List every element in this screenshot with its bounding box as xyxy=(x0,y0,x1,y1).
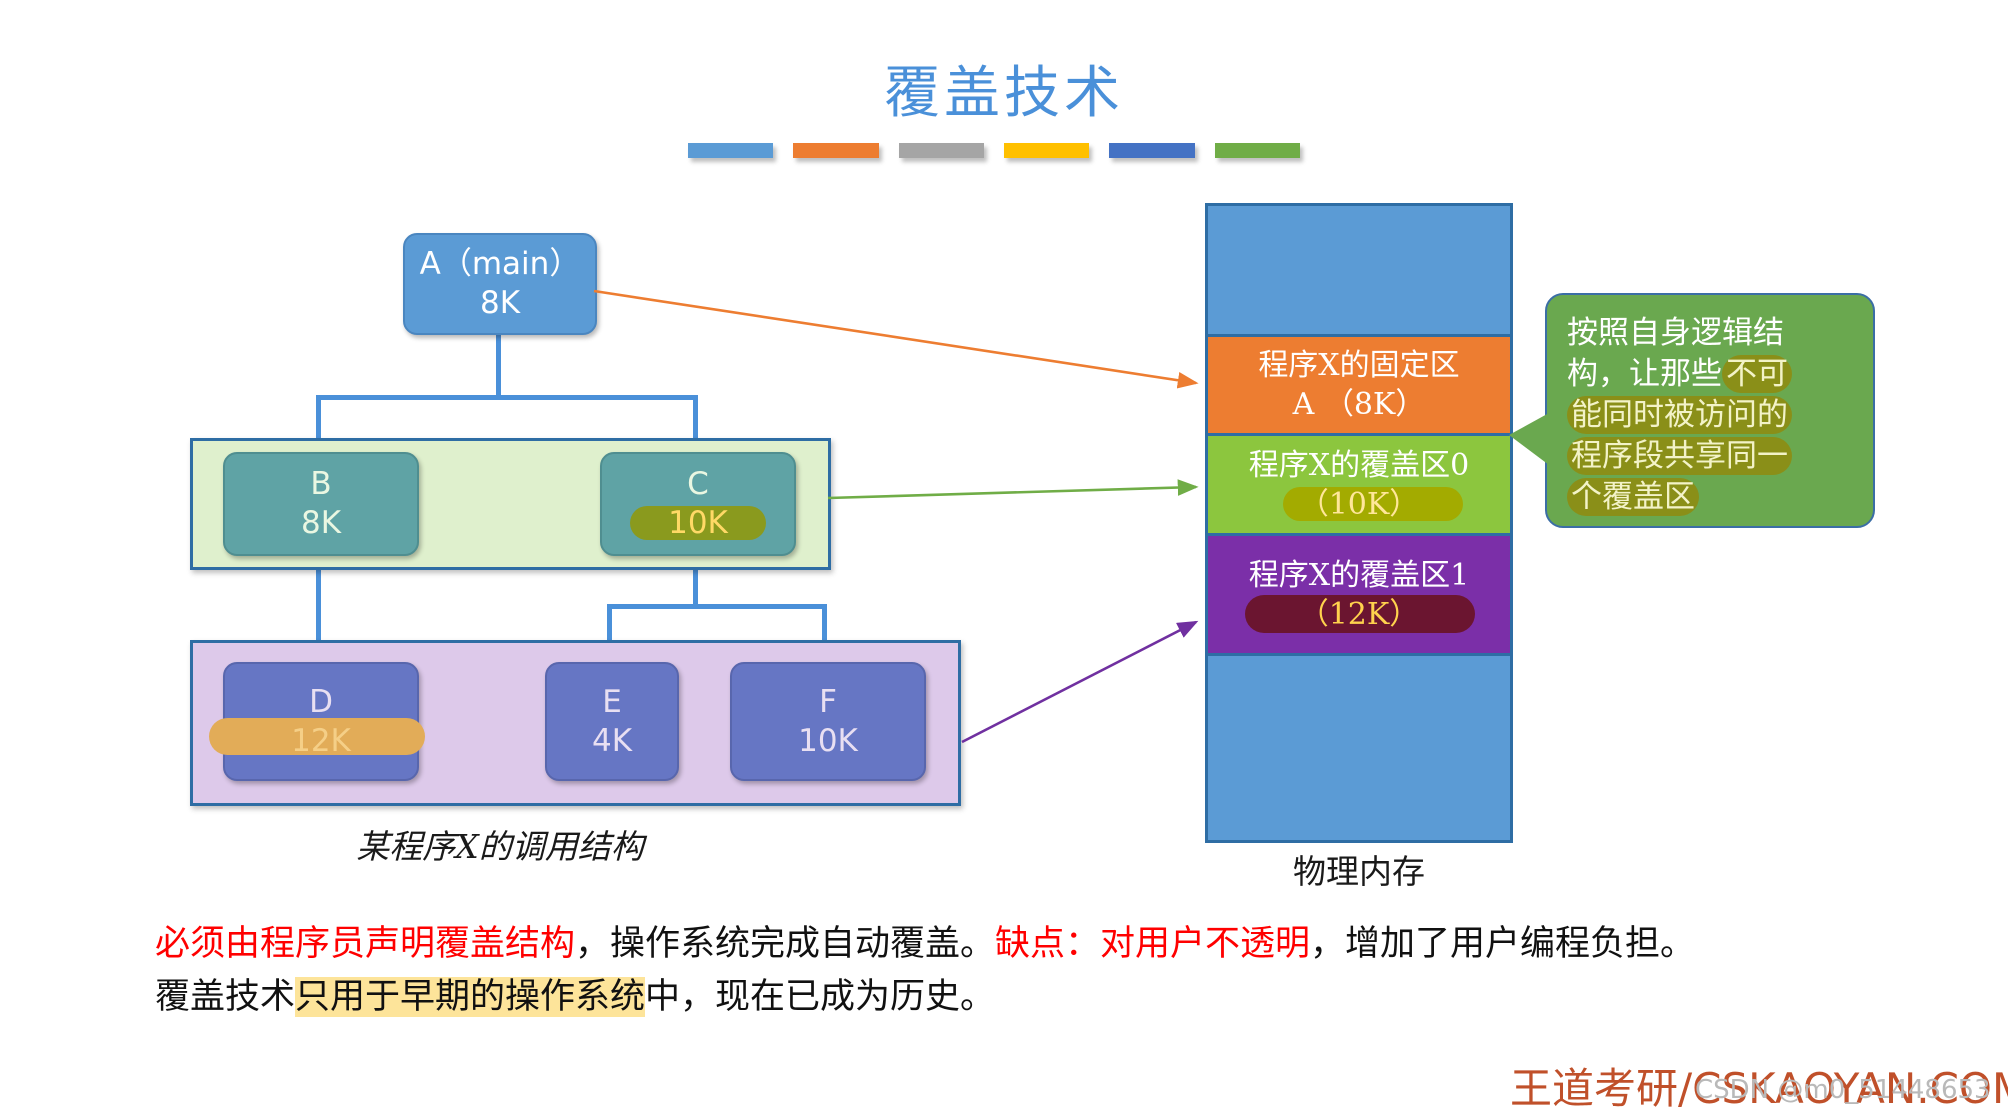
footnote-black-2: ，增加了用户编程负担。 xyxy=(1310,924,1695,964)
tree-node-a-label: A（main） xyxy=(420,245,581,284)
tree-node-d[interactable]: D 12K xyxy=(223,662,419,781)
memory-overlay0-line1: 程序X的覆盖区0 xyxy=(1249,446,1469,485)
connector-ef-bus xyxy=(607,604,827,609)
memory-segment-overlay-0[interactable]: 程序X的覆盖区0 （10K） xyxy=(1208,436,1510,536)
tree-node-c-label: C xyxy=(687,465,709,504)
tree-node-b[interactable]: B 8K xyxy=(223,452,419,556)
tree-node-d-size: 12K xyxy=(291,722,351,761)
tree-node-f[interactable]: F 10K xyxy=(730,662,926,781)
tree-node-f-size: 10K xyxy=(798,722,858,761)
slide-canvas: 覆盖技术 A（main） 8K B 8K C 10K D 12K E xyxy=(0,0,2008,1120)
callout-line-3: 能同时被访问的 xyxy=(1567,395,1857,436)
tree-node-f-label: F xyxy=(819,683,837,722)
footnote-line-1: 必须由程序员声明覆盖结构，操作系统完成自动覆盖。缺点：对用户不透明，增加了用户编… xyxy=(155,918,1915,971)
memory-fixed-line1: 程序X的固定区 xyxy=(1258,346,1459,385)
callout-line-2-highlight: 不可 xyxy=(1722,355,1792,393)
footnote-line2-black-2: 中，现在已成为历史。 xyxy=(645,977,995,1017)
callout-bubble: 按照自身逻辑结 构，让那些不可 能同时被访问的 程序段共享同一 个覆盖区 xyxy=(1545,293,1875,528)
accent-bar-5 xyxy=(1215,143,1300,158)
tree-node-e-size: 4K xyxy=(592,722,632,761)
tree-node-e-label: E xyxy=(602,683,622,722)
callout-tail xyxy=(1509,413,1549,465)
callout-line-5-highlight: 个覆盖区 xyxy=(1567,478,1699,516)
callout-line-3-highlight: 能同时被访问的 xyxy=(1567,396,1792,434)
tree-node-a[interactable]: A（main） 8K xyxy=(403,233,597,335)
arrow-c-to-overlay-area-0 xyxy=(828,487,1196,498)
csdn-watermark: CSDN @m0_51448653 xyxy=(1695,1075,1991,1105)
memory-overlay0-line2: （10K） xyxy=(1299,485,1420,524)
accent-bar-3 xyxy=(1004,143,1089,158)
footnote-paragraph: 必须由程序员声明覆盖结构，操作系统完成自动覆盖。缺点：对用户不透明，增加了用户编… xyxy=(155,918,1915,1024)
callout-line-2: 构，让那些不可 xyxy=(1567,354,1857,395)
footnote-line2-highlight: 只用于早期的操作系统 xyxy=(295,977,645,1017)
tree-caption: 某程序X的调用结构 xyxy=(290,820,710,868)
accent-bar-1 xyxy=(793,143,878,158)
accent-bar-0 xyxy=(688,143,773,158)
arrow-f-to-overlay-area-1 xyxy=(962,622,1196,742)
footnote-line-2: 覆盖技术只用于早期的操作系统中，现在已成为历史。 xyxy=(155,971,1915,1024)
title-accent-bars xyxy=(688,143,1300,159)
memory-caption: 物理内存 xyxy=(1205,845,1513,893)
tree-node-b-size: 8K xyxy=(301,504,341,543)
accent-bar-2 xyxy=(899,143,984,158)
tree-node-d-label: D xyxy=(309,683,333,722)
connector-bc-bus xyxy=(316,395,698,400)
accent-bar-4 xyxy=(1109,143,1194,158)
tree-node-a-size: 8K xyxy=(480,284,520,323)
callout-line-1: 按照自身逻辑结 xyxy=(1567,313,1857,354)
callout-line-4: 程序段共享同一 xyxy=(1567,436,1857,477)
tree-node-b-label: B xyxy=(310,465,331,504)
tree-node-c-size: 10K xyxy=(668,504,728,543)
footnote-red-2: 缺点：对用户不透明 xyxy=(995,924,1310,964)
footnote-black-1: ，操作系统完成自动覆盖。 xyxy=(575,924,995,964)
memory-segment-fixed-area[interactable]: 程序X的固定区 A （8K） xyxy=(1208,334,1510,436)
physical-memory-column: 程序X的固定区 A （8K） 程序X的覆盖区0 （10K） 程序X的覆盖区1 （… xyxy=(1205,203,1513,843)
callout-line-5: 个覆盖区 xyxy=(1567,477,1857,518)
memory-segment-overlay-1[interactable]: 程序X的覆盖区1 （12K） xyxy=(1208,536,1510,656)
arrow-a-to-fixed-area xyxy=(594,291,1196,383)
memory-fixed-line2: A （8K） xyxy=(1293,385,1426,424)
tree-node-e[interactable]: E 4K xyxy=(545,662,679,781)
page-title: 覆盖技术 xyxy=(0,48,2008,129)
callout-line-2-plain: 构，让那些 xyxy=(1567,356,1722,392)
memory-overlay1-line1: 程序X的覆盖区1 xyxy=(1249,556,1469,595)
connector-a-down xyxy=(496,331,501,397)
footnote-red-1: 必须由程序员声明覆盖结构 xyxy=(155,924,575,964)
memory-overlay1-line2: （12K） xyxy=(1299,595,1420,634)
tree-node-c[interactable]: C 10K xyxy=(600,452,796,556)
callout-line-4-highlight: 程序段共享同一 xyxy=(1567,437,1792,475)
footnote-line2-black-1: 覆盖技术 xyxy=(155,977,295,1017)
